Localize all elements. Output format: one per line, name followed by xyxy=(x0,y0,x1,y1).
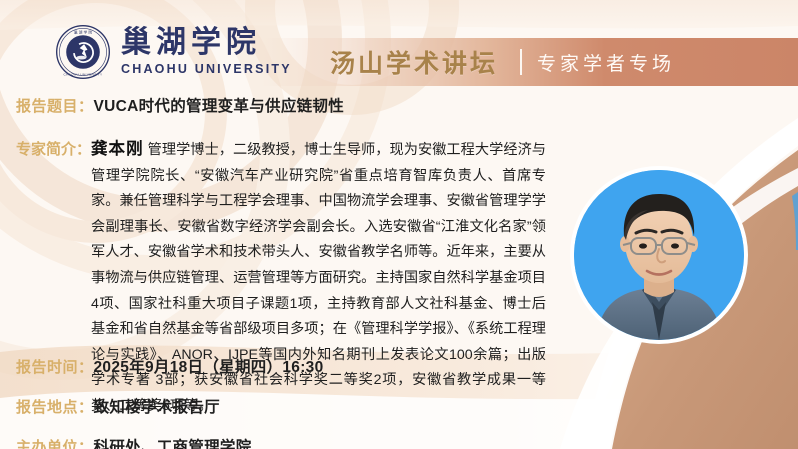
report-title-value: VUCA时代的管理变革与供应链韧性 xyxy=(94,94,345,116)
detail-value: 致知楼学术报告厅 xyxy=(94,395,220,417)
university-logo-block: 巢 湖 学 院 CHAOHU UNIVERSITY 巢湖学院 CHAOHU UN… xyxy=(55,24,292,80)
expert-name: 龚本刚 xyxy=(91,140,144,158)
banner-divider xyxy=(520,49,522,75)
chaohu-university-seal-icon: 巢 湖 学 院 CHAOHU UNIVERSITY xyxy=(55,24,111,80)
detail-row-time: 报告时间： 2025年9月18日（星期四）16:30 xyxy=(16,355,324,377)
detail-rows: 报告时间： 2025年9月18日（星期四）16:30 报告地点： 致知楼学术报告… xyxy=(16,355,324,449)
detail-value: 科研处、工商管理学院 xyxy=(94,435,252,449)
lecture-series-banner: 汤山学术讲坛 专家学者专场 xyxy=(262,38,798,86)
svg-text:CHAOHU UNIVERSITY: CHAOHU UNIVERSITY xyxy=(64,73,103,77)
university-name-group: 巢湖学院 CHAOHU UNIVERSITY xyxy=(121,28,292,76)
detail-label: 报告地点： xyxy=(16,396,94,417)
expert-bio-label: 专家简介： xyxy=(16,137,91,163)
svg-text:巢 湖 学 院: 巢 湖 学 院 xyxy=(74,30,92,35)
banner-main-title: 汤山学术讲坛 xyxy=(330,44,498,80)
detail-value: 2025年9月18日（星期四）16:30 xyxy=(94,355,324,377)
detail-label: 报告时间： xyxy=(16,356,94,377)
university-name-cn: 巢湖学院 xyxy=(121,28,292,59)
university-name-en: CHAOHU UNIVERSITY xyxy=(121,62,292,76)
banner-subtitle: 专家学者专场 xyxy=(537,49,675,76)
report-title-label: 报告题目： xyxy=(16,95,94,116)
speaker-portrait-icon xyxy=(574,170,744,340)
lecture-poster: 汤山学术讲坛 专家学者专场 巢 湖 学 院 CHAOHU UNIVERSITY … xyxy=(0,0,798,449)
detail-label: 主办单位： xyxy=(16,436,94,449)
speaker-portrait xyxy=(574,170,744,340)
poster-header: 汤山学术讲坛 专家学者专场 巢 湖 学 院 CHAOHU UNIVERSITY … xyxy=(0,0,798,98)
detail-row-organizer: 主办单位： 科研处、工商管理学院 xyxy=(16,435,324,449)
detail-row-location: 报告地点： 致知楼学术报告厅 xyxy=(16,395,324,417)
report-title-row: 报告题目： VUCA时代的管理变革与供应链韧性 xyxy=(16,94,344,116)
